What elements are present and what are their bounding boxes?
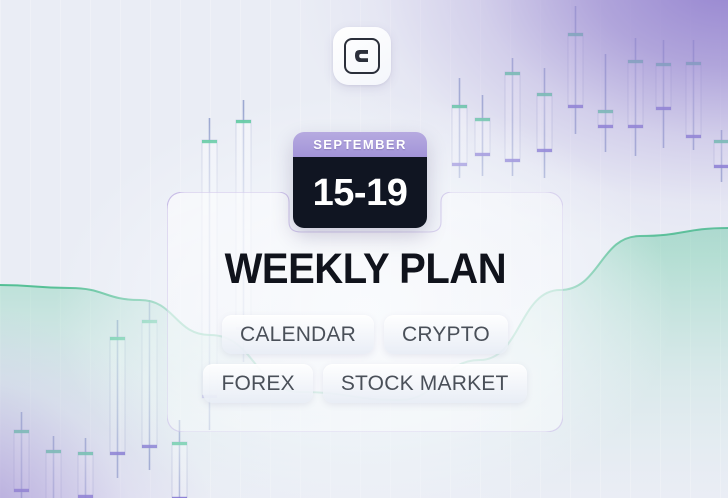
tag-crypto[interactable]: CRYPTO <box>384 315 508 354</box>
tag-calendar[interactable]: CALENDAR <box>222 315 374 354</box>
calendar-date-body: 15-19 <box>293 157 427 228</box>
tag-stock-market[interactable]: STOCK MARKET <box>323 364 527 403</box>
panel-content: WEEKLY PLAN CALENDAR CRYPTO FOREX STOCK … <box>167 192 563 432</box>
tag-forex[interactable]: FOREX <box>203 364 312 403</box>
brand-logo-badge[interactable] <box>333 27 391 85</box>
tag-row-secondary: FOREX STOCK MARKET <box>203 364 526 403</box>
poster-canvas: WEEKLY PLAN CALENDAR CRYPTO FOREX STOCK … <box>0 0 728 498</box>
calendar-date-range: 15-19 <box>313 174 408 212</box>
page-title: WEEKLY PLAN <box>224 248 506 291</box>
calendar-month-label: SEPTEMBER <box>313 137 407 152</box>
calendar-card: SEPTEMBER 15-19 <box>293 132 427 228</box>
calendar-month-header: SEPTEMBER <box>293 132 427 157</box>
tag-row-primary: CALENDAR CRYPTO <box>222 315 508 354</box>
c-mark-logo-icon <box>344 38 380 74</box>
